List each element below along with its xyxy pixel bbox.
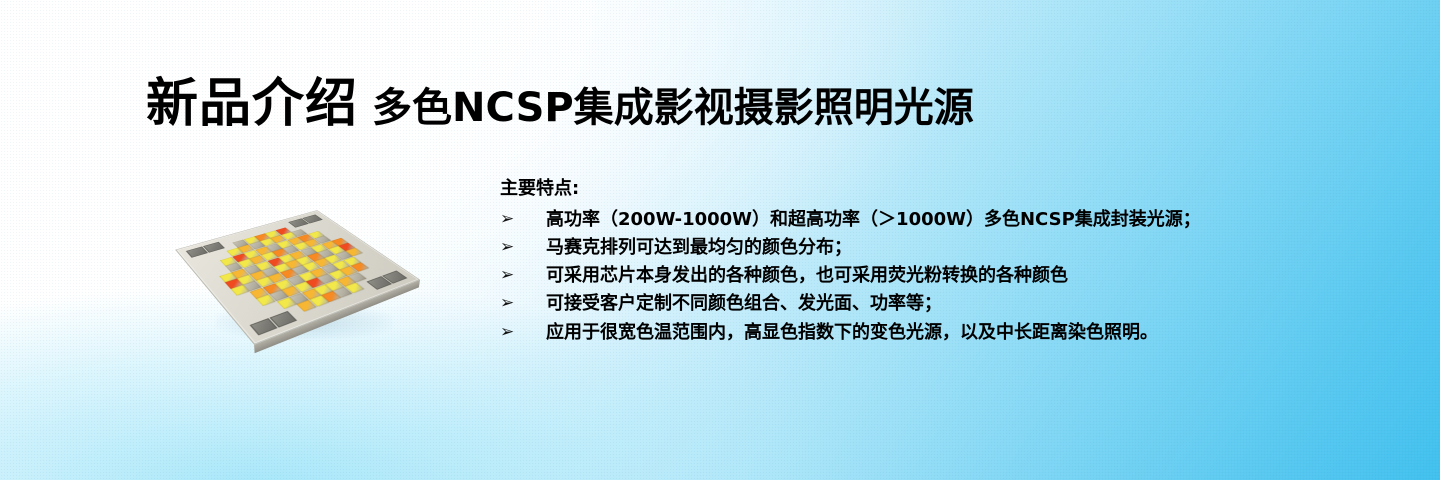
- led-chip: [329, 270, 347, 280]
- led-chip: [268, 273, 286, 283]
- bullet-arrow-icon: ➢: [500, 262, 546, 289]
- led-chip: [345, 283, 364, 294]
- solder-pad-icon: [250, 318, 278, 335]
- feature-item: ➢可接受客户定制不同颜色组合、发光面、功率等；: [500, 290, 1380, 318]
- solder-pad-icon: [382, 271, 407, 284]
- page-title: 新品介绍 多色NCSP集成影视摄影照明光源: [146, 78, 974, 130]
- feature-item: ➢可采用芯片本身发出的各种颜色，也可采用荧光粉转换的各种颜色: [500, 262, 1380, 290]
- led-chip: [348, 272, 367, 282]
- features-heading: 主要特点:: [500, 178, 1380, 201]
- led-chip: [313, 284, 332, 295]
- led-chip: [263, 283, 282, 294]
- bullet-arrow-icon: ➢: [500, 290, 546, 317]
- led-chip: [310, 268, 328, 278]
- led-chip: [237, 275, 255, 285]
- bullet-arrow-icon: ➢: [500, 206, 546, 233]
- feature-item: ➢马赛克排列可达到最均匀的颜色分布；: [500, 234, 1380, 262]
- led-chip: [297, 300, 317, 312]
- led-chip: [321, 291, 341, 302]
- led-chip: [289, 293, 308, 304]
- page-title-main: 新品介绍: [146, 78, 358, 130]
- led-chip: [231, 285, 250, 296]
- bullet-arrow-icon: ➢: [500, 319, 546, 346]
- led-chip: [306, 278, 325, 288]
- feature-item-text: 马赛克排列可达到最均匀的颜色分布；: [546, 234, 852, 262]
- led-chip: [301, 288, 320, 299]
- led-chip: [273, 263, 291, 272]
- led-chip: [244, 281, 262, 292]
- led-chip: [282, 286, 301, 297]
- led-chip: [325, 280, 344, 290]
- led-chip: [250, 288, 269, 299]
- led-cob-module: [175, 210, 420, 345]
- led-chip: [280, 269, 298, 279]
- led-chip: [269, 290, 288, 301]
- led-chip: [321, 264, 339, 274]
- feature-item-text: 应用于很宽色温范围内，高显色指数下的变色光源，以及中长距离染色照明。: [546, 319, 1158, 347]
- feature-item-text: 高功率（200W-1000W）和超高功率（＞1000W）多色NCSP集成封装光源…: [546, 206, 1201, 234]
- led-chip: [343, 257, 361, 266]
- feature-list: ➢高功率（200W-1000W）和超高功率（＞1000W）多色NCSP集成封装光…: [500, 206, 1380, 347]
- page-title-subtitle: 多色NCSP集成影视摄影照明光源: [372, 88, 974, 128]
- led-chip: [225, 279, 243, 289]
- solder-pad-icon: [269, 311, 297, 328]
- led-chip: [231, 268, 249, 278]
- led-chip: [275, 279, 294, 289]
- led-chip: [291, 265, 309, 275]
- led-chip: [244, 265, 261, 275]
- led-chip: [299, 271, 317, 281]
- solder-pad-icon: [366, 276, 392, 290]
- product-image: [196, 178, 408, 354]
- led-chip-array: [198, 219, 396, 327]
- led-chip: [219, 272, 237, 282]
- led-chip: [336, 276, 355, 286]
- led-chip: [294, 282, 313, 293]
- slide-root: 新品介绍 多色NCSP集成影视摄影照明光源: [0, 0, 1440, 480]
- feature-item: ➢应用于很宽色温范围内，高显色指数下的变色光源，以及中长距离染色照明。: [500, 319, 1380, 347]
- led-chip: [276, 297, 296, 309]
- led-chip: [257, 294, 276, 305]
- led-chip: [317, 274, 335, 284]
- ceramic-substrate: [175, 210, 420, 345]
- features-block: 主要特点: ➢高功率（200W-1000W）和超高功率（＞1000W）多色NCS…: [500, 178, 1380, 347]
- feature-item-text: 可采用芯片本身发出的各种颜色，也可采用荧光粉转换的各种颜色: [546, 262, 1068, 290]
- led-chip: [256, 277, 274, 287]
- led-chip: [350, 263, 368, 272]
- feature-item-text: 可接受客户定制不同颜色组合、发光面、功率等；: [546, 290, 942, 318]
- led-chip: [309, 295, 329, 306]
- led-chip: [340, 266, 358, 276]
- bullet-arrow-icon: ➢: [500, 234, 546, 261]
- feature-item: ➢高功率（200W-1000W）和超高功率（＞1000W）多色NCSP集成封装光…: [500, 206, 1380, 234]
- led-chip: [333, 287, 352, 298]
- product-stage: [196, 178, 408, 354]
- led-chip: [287, 275, 305, 285]
- led-chip: [250, 271, 268, 281]
- led-chip: [262, 267, 280, 277]
